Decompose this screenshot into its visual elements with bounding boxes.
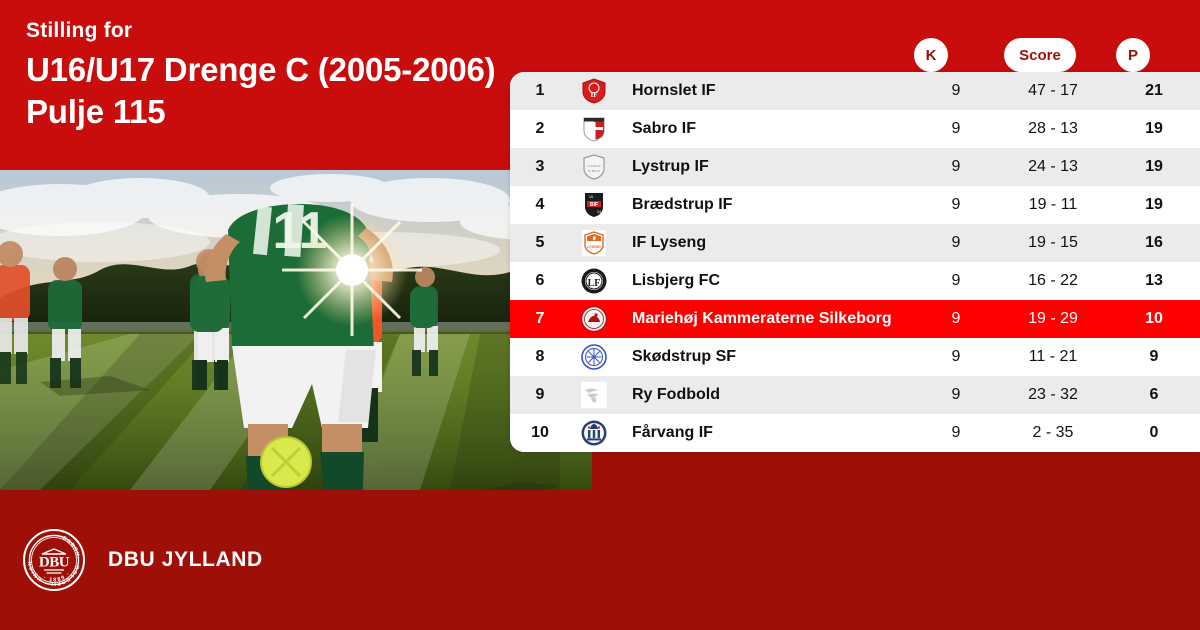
row-points: 9 [1108,348,1200,366]
braedstrup-crest: BIF1924 [570,192,618,218]
row-position: 2 [510,120,570,138]
row-points: 0 [1108,424,1200,442]
row-position: 7 [510,310,570,328]
row-matches-played: 9 [914,424,998,442]
row-position: 8 [510,348,570,366]
row-goal-score: 23 - 32 [998,386,1108,404]
mariehoj-crest [570,306,618,332]
table-row[interactable]: 3LYSTRUPIF-BOLDLystrup IF924 - 1319 [510,148,1200,186]
table-row[interactable]: 7Mariehøj Kammeraterne Silkeborg919 - 29… [510,300,1200,338]
row-team-name: Brædstrup IF [618,196,914,214]
header-badge-matches: K [914,38,948,72]
svg-text:19: 19 [589,195,593,199]
skodstrup-crest [570,344,618,370]
table-row[interactable]: 4BIF1924Brædstrup IF919 - 1119 [510,186,1200,224]
dbu-label: DBU JYLLAND [108,548,263,572]
row-goal-score: 28 - 13 [998,120,1108,138]
row-matches-played: 9 [914,310,998,328]
svg-text:LF: LF [588,278,601,289]
row-position: 10 [510,424,570,442]
row-matches-played: 9 [914,272,998,290]
row-position: 6 [510,272,570,290]
lisbjerg-crest: LF [570,268,618,294]
row-team-name: Lystrup IF [618,158,914,176]
row-points: 19 [1108,196,1200,214]
svg-text:LYSENG: LYSENG [587,245,601,249]
table-row[interactable]: 10Fårvang IF92 - 350 [510,414,1200,452]
svg-text:24: 24 [597,210,601,214]
row-team-name: Skødstrup SF [618,348,914,366]
table-row[interactable]: 6LFLisbjerg FC916 - 2213 [510,262,1200,300]
row-points: 19 [1108,120,1200,138]
svg-text:IF-BOLD: IF-BOLD [588,169,601,173]
table-row[interactable]: 9Ry Fodbold923 - 326 [510,376,1200,414]
row-team-name: Mariehøj Kammeraterne Silkeborg [618,310,914,328]
dbu-seal-icon: DANSK · BOLDSPIL · UNION · · 1889 · DBU [22,528,86,592]
hero-photo: 11 [0,170,592,490]
row-goal-score: 47 - 17 [998,82,1108,100]
row-goal-score: 2 - 35 [998,424,1108,442]
table-row[interactable]: 8Skødstrup SF911 - 219 [510,338,1200,376]
svg-text:DBU: DBU [39,555,70,571]
row-points: 16 [1108,234,1200,252]
table-row[interactable]: 2Sabro IF928 - 1319 [510,110,1200,148]
standings-graphic: IF co V S Stilling for U16/U17 Drenge C … [0,0,1200,630]
row-points: 21 [1108,82,1200,100]
row-goal-score: 19 - 29 [998,310,1108,328]
standings-table: 1IFHornslet IF947 - 17212Sabro IF928 - 1… [510,72,1200,452]
row-team-name: Fårvang IF [618,424,914,442]
svg-text:IF: IF [591,91,598,99]
row-points: 6 [1108,386,1200,404]
hornslet-crest: IF [570,78,618,104]
farvang-crest [570,420,618,446]
svg-text:LYSTRUP: LYSTRUP [587,164,601,168]
row-position: 4 [510,196,570,214]
row-points: 13 [1108,272,1200,290]
page-subtitle: Pulje 115 [26,91,586,133]
row-matches-played: 9 [914,386,998,404]
row-position: 3 [510,158,570,176]
row-team-name: IF Lyseng [618,234,914,252]
header-badge-points: P [1116,38,1150,72]
row-points: 19 [1108,158,1200,176]
row-goal-score: 16 - 22 [998,272,1108,290]
row-position: 9 [510,386,570,404]
table-row[interactable]: 1IFHornslet IF947 - 1721 [510,72,1200,110]
row-matches-played: 9 [914,234,998,252]
row-matches-played: 9 [914,120,998,138]
row-team-name: Hornslet IF [618,82,914,100]
row-goal-score: 19 - 11 [998,196,1108,214]
row-team-name: Ry Fodbold [618,386,914,404]
row-goal-score: 24 - 13 [998,158,1108,176]
table-column-headers: K Score P [0,0,1200,72]
sabro-crest [570,116,618,142]
lyseng-crest: LYSENG [570,230,618,256]
row-points: 10 [1108,310,1200,328]
lystrup-crest: LYSTRUPIF-BOLD [570,154,618,180]
row-position: 5 [510,234,570,252]
row-matches-played: 9 [914,348,998,366]
row-team-name: Sabro IF [618,120,914,138]
svg-text:BIF: BIF [590,202,598,208]
row-position: 1 [510,82,570,100]
header-badge-score: Score [1004,38,1076,72]
table-row[interactable]: 5LYSENGIF Lyseng919 - 1516 [510,224,1200,262]
row-goal-score: 19 - 15 [998,234,1108,252]
footer-bar: DANSK · BOLDSPIL · UNION · · 1889 · DBU … [0,490,1200,630]
row-team-name: Lisbjerg FC [618,272,914,290]
row-goal-score: 11 - 21 [998,348,1108,366]
ry-crest [570,382,618,408]
row-matches-played: 9 [914,82,998,100]
row-matches-played: 9 [914,196,998,214]
row-matches-played: 9 [914,158,998,176]
